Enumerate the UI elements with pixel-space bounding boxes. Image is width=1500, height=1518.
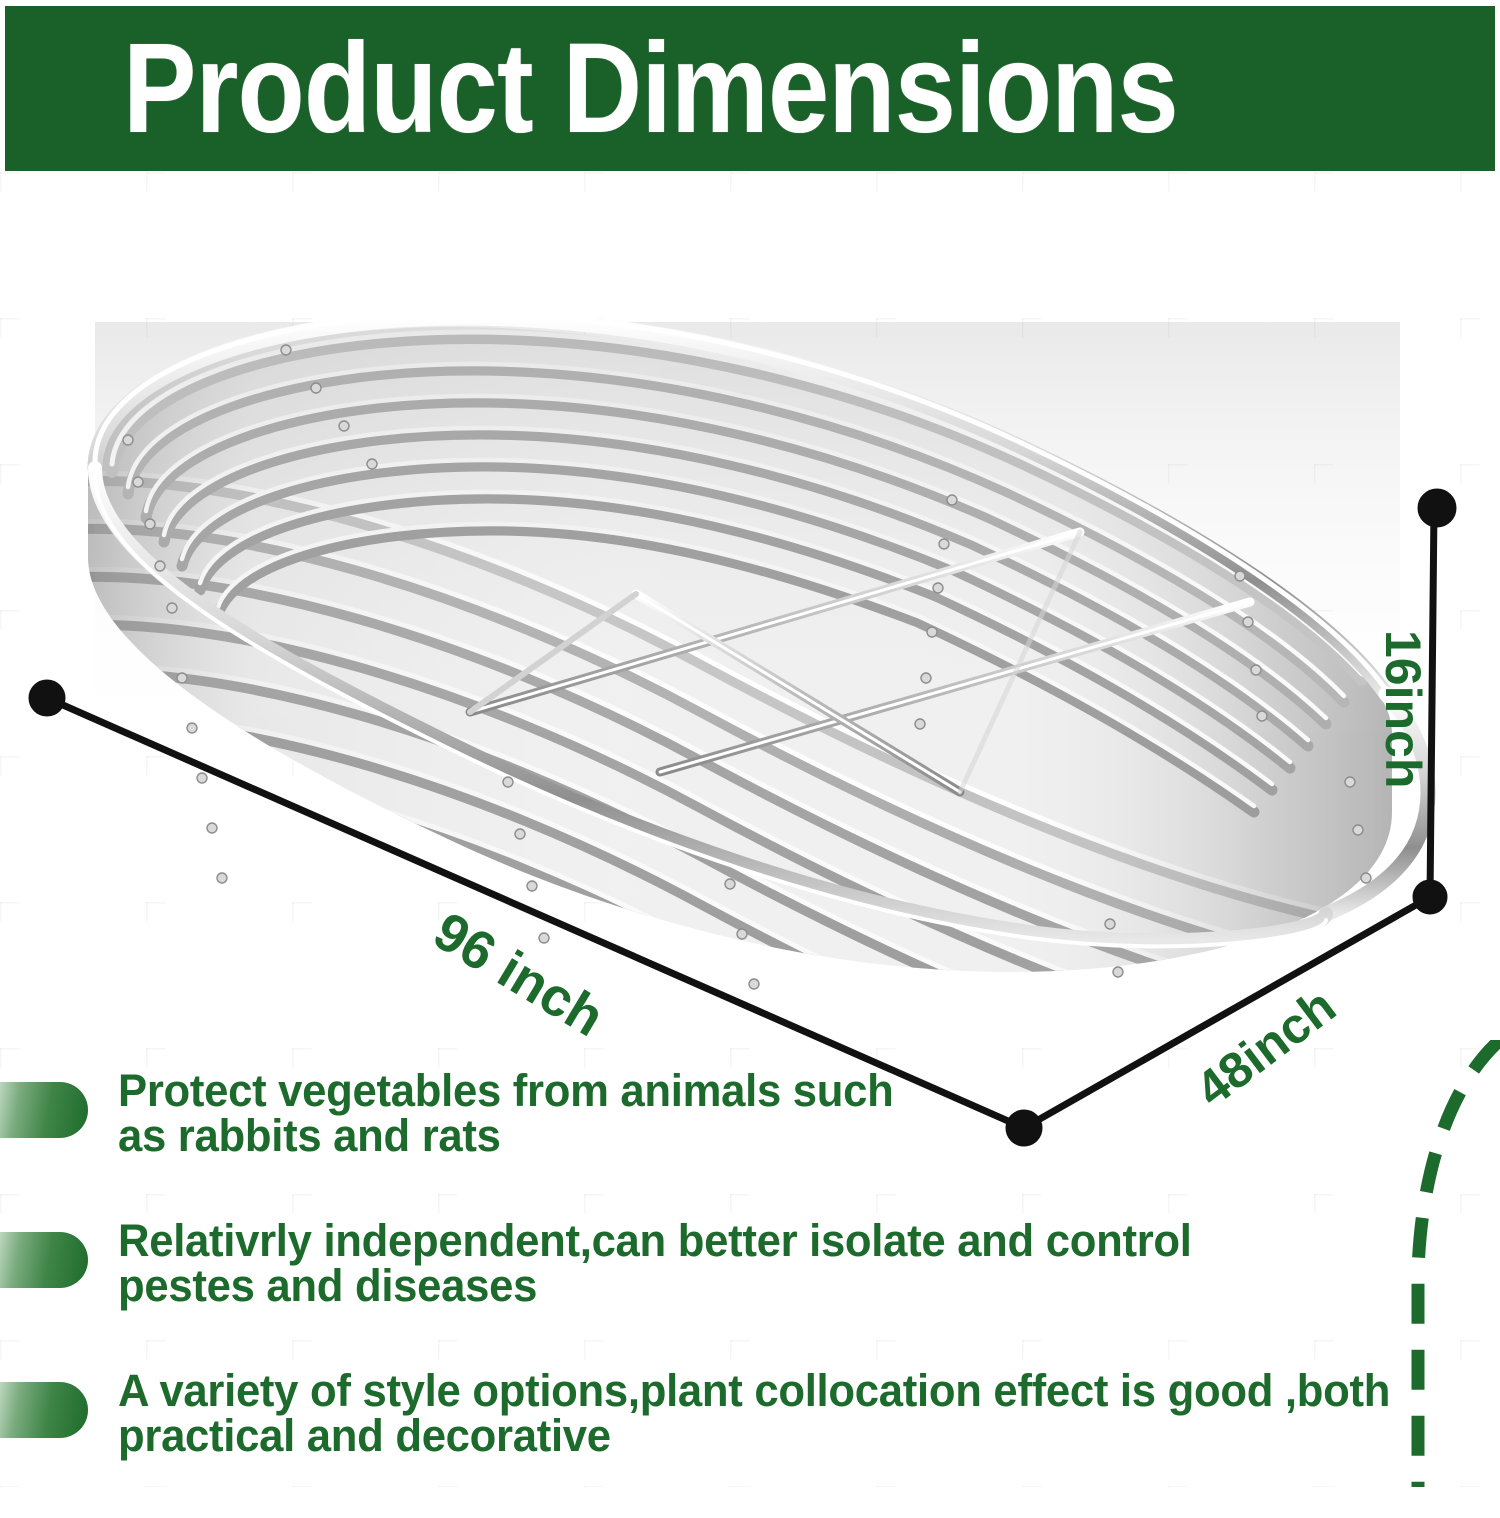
feature-list: Protect vegetables from animals suchas r… xyxy=(0,1068,1500,1518)
list-item: A variety of style options,plant colloca… xyxy=(0,1368,1500,1518)
list-item: Relativrly independent,can better isolat… xyxy=(0,1218,1500,1368)
dimension-label-height: 16inch xyxy=(1374,630,1432,788)
feature-text: Protect vegetables from animals suchas r… xyxy=(118,1068,894,1158)
page-title: Product Dimensions xyxy=(123,25,1178,153)
bullet-marker-icon xyxy=(0,1232,88,1288)
bullet-marker-icon xyxy=(0,1382,88,1438)
feature-text: Relativrly independent,can better isolat… xyxy=(118,1218,1192,1308)
bullet-marker-icon xyxy=(0,1082,88,1138)
header-banner: Product Dimensions xyxy=(5,6,1495,171)
list-item: Protect vegetables from animals suchas r… xyxy=(0,1068,1500,1218)
feature-text: A variety of style options,plant colloca… xyxy=(118,1368,1390,1458)
